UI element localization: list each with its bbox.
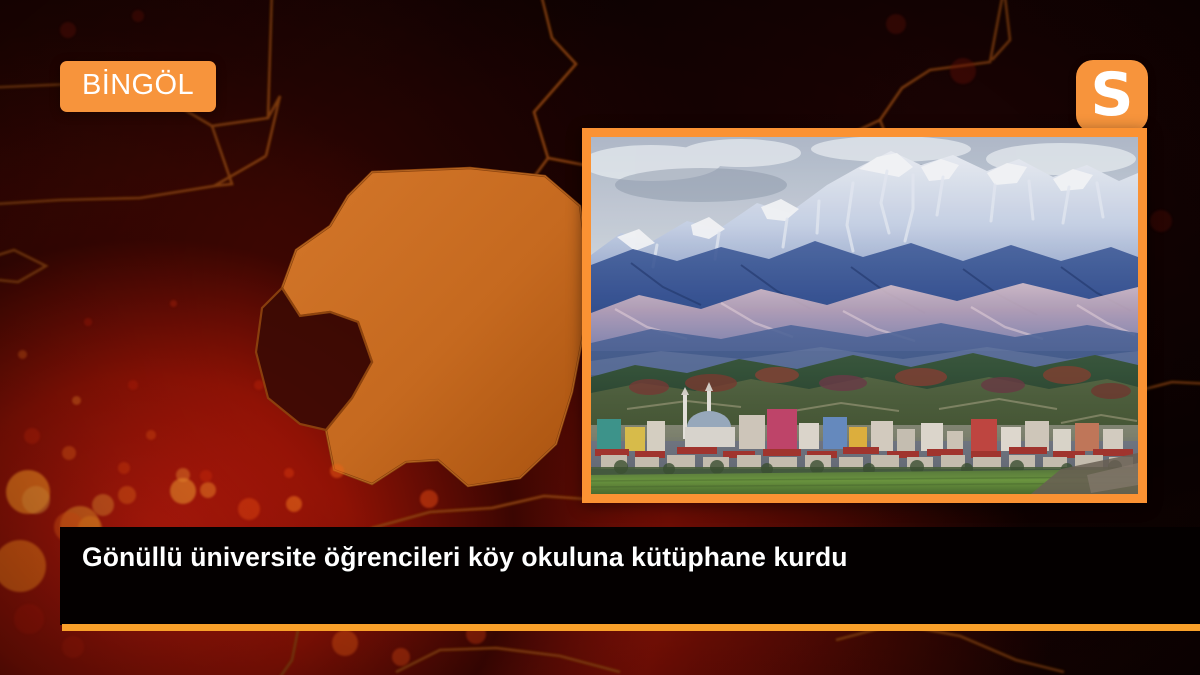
news-card: BİNGÖL S	[0, 0, 1200, 675]
site-logo-letter: S	[1090, 65, 1133, 125]
province-badge-label: BİNGÖL	[82, 69, 194, 101]
headline: Gönüllü üniversite öğrencileri köy okulu…	[82, 541, 882, 573]
province-badge: BİNGÖL	[60, 61, 216, 112]
photo-frame	[582, 128, 1147, 503]
caption-accent-rule	[62, 624, 1200, 631]
photo-illustration	[591, 137, 1138, 494]
news-photo	[591, 137, 1138, 494]
site-logo[interactable]: S	[1076, 60, 1148, 132]
caption-panel: Gönüllü üniversite öğrencileri köy okulu…	[60, 527, 1200, 625]
